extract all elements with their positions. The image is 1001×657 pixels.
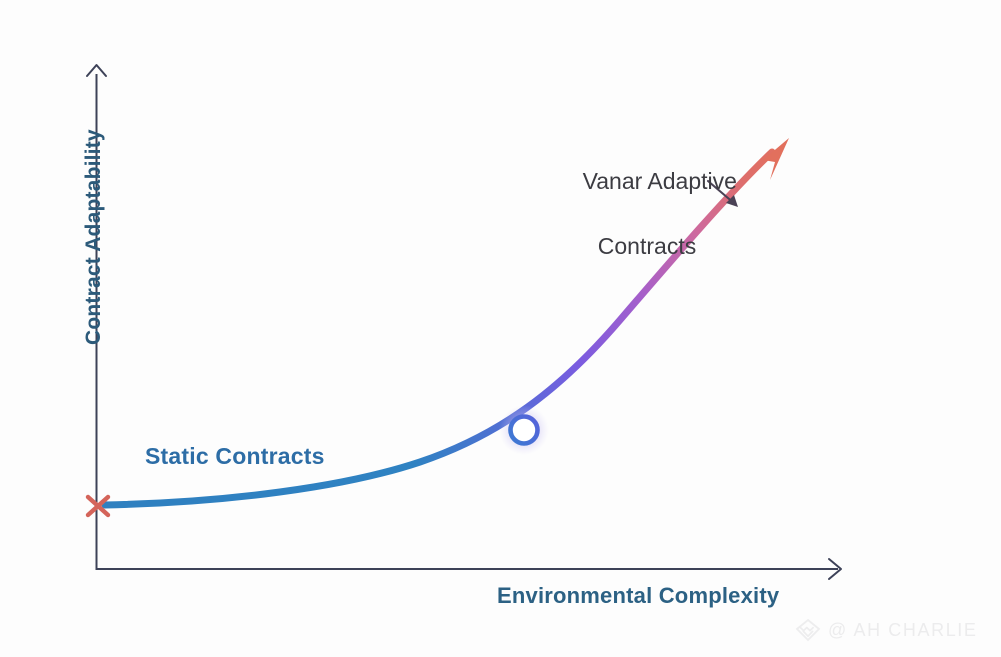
adaptability-curve-chart: [0, 0, 1001, 657]
curve-group: [105, 138, 789, 505]
watermark-text: @ AH CHARLIE: [828, 620, 978, 641]
adaptability-curve-path: [105, 152, 772, 505]
node-ring: [511, 417, 538, 444]
circle-node-icon[interactable]: [499, 405, 549, 455]
watermark: @ AH CHARLIE: [795, 618, 978, 642]
chart-canvas: Contract Adaptability Environmental Comp…: [0, 0, 1001, 657]
curve-arrowhead: [763, 138, 789, 180]
diamond-logo-icon: [795, 618, 821, 642]
